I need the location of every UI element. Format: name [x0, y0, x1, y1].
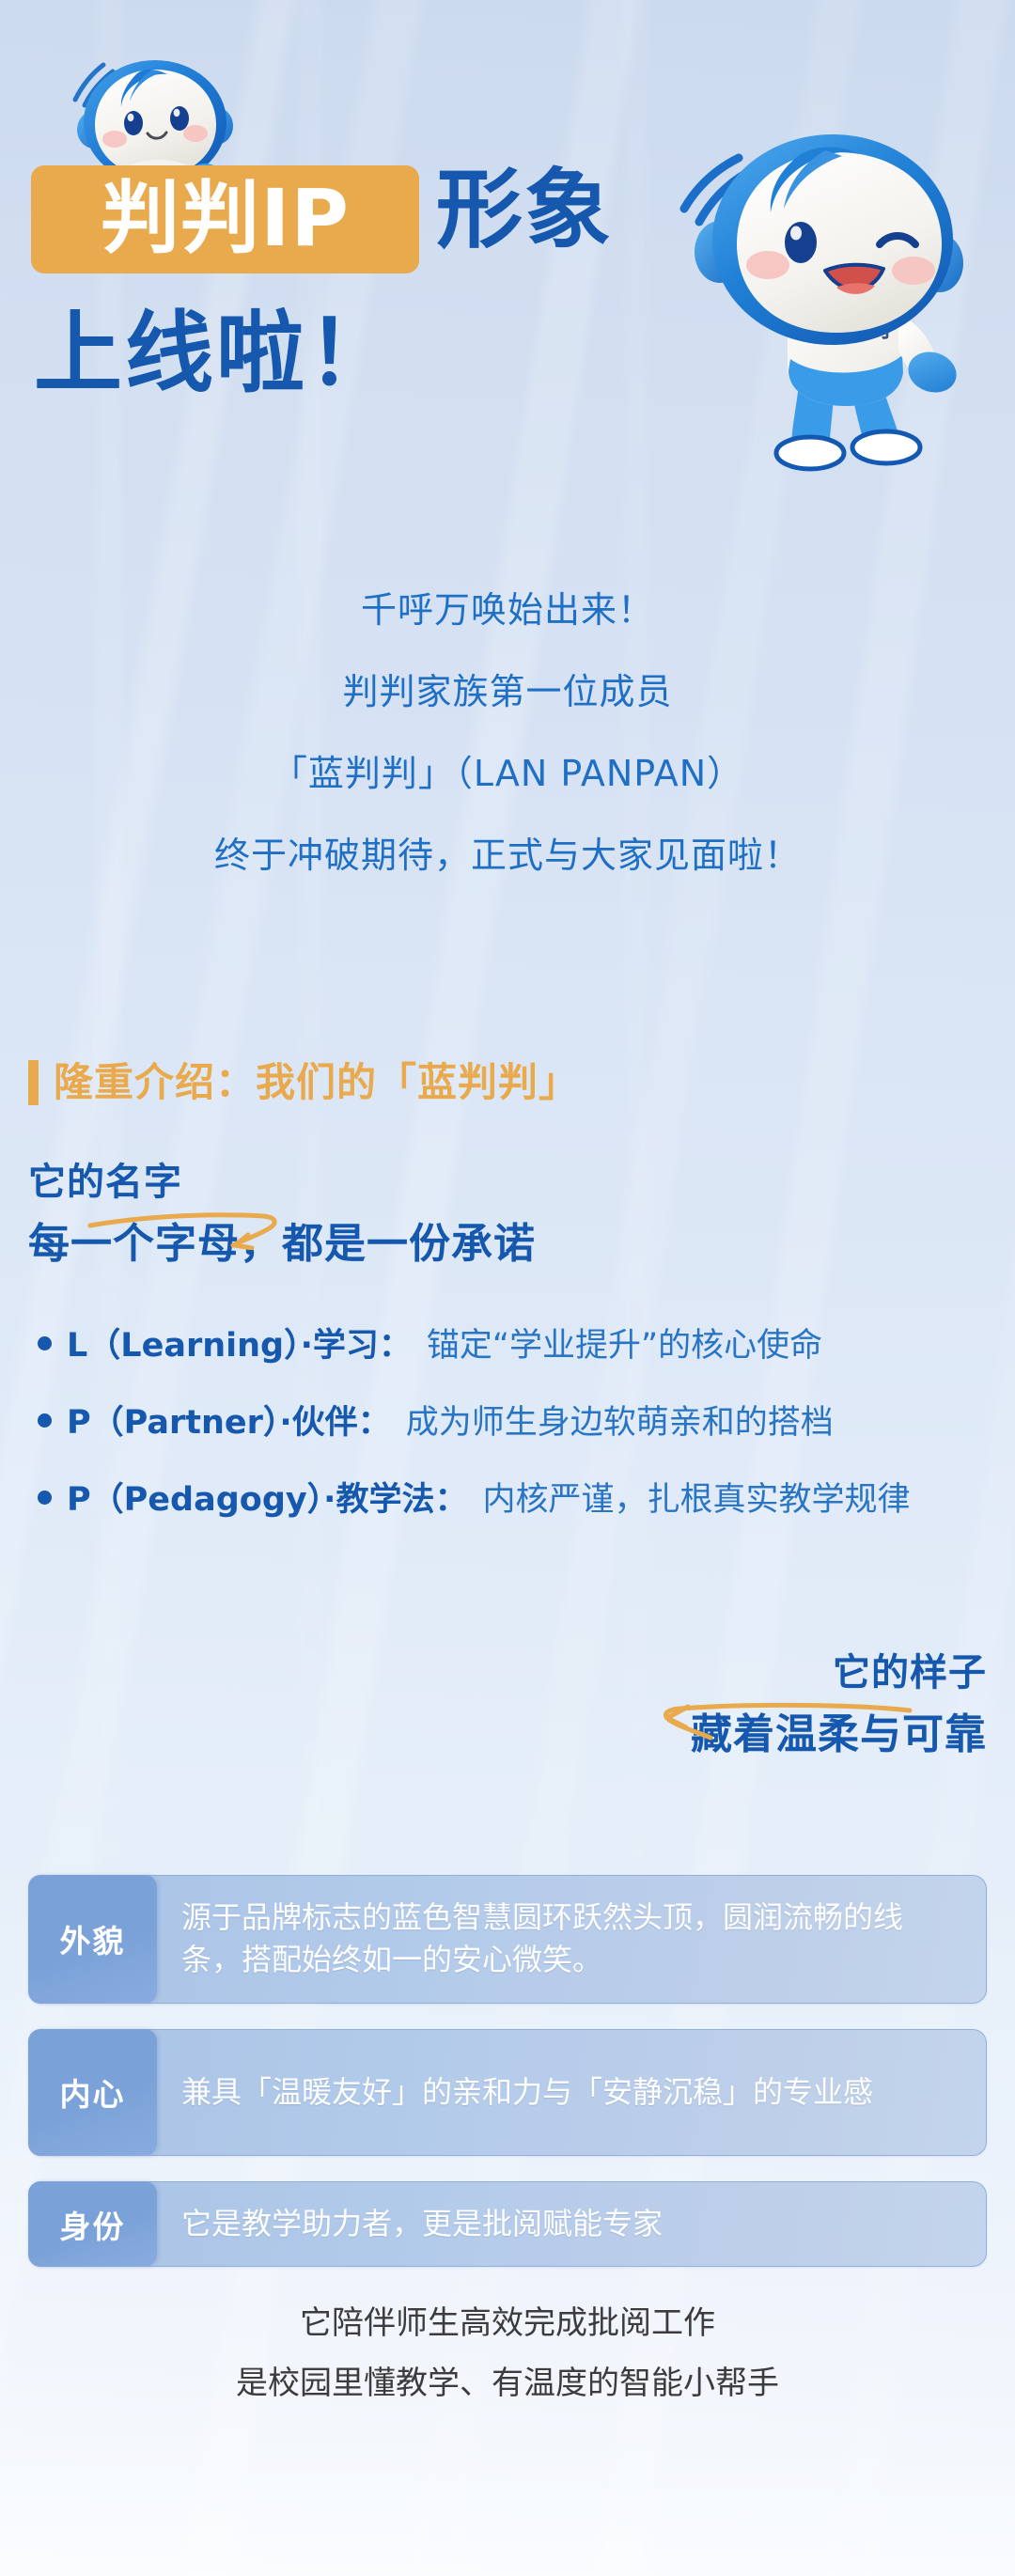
section-heading-accent-bar — [28, 1060, 39, 1105]
trait-card: 身份 它是教学助力者，更是批阅赋能专家 — [28, 2181, 987, 2267]
mascot-waving-icon: 判判 — [658, 103, 996, 498]
swoosh-arrow-left-icon — [641, 1695, 913, 1741]
intro-paragraph: 千呼万唤始出来！ 判判家族第一位成员 「蓝判判」（LAN PANPAN） 终于冲… — [0, 592, 1015, 873]
trait-card-text: 源于品牌标志的蓝色智慧圆环跃然头顶，圆润流畅的线条，搭配始终如一的安心微笑。 — [181, 1897, 960, 1982]
hero-section: 判判IP 形象 上线啦！ — [0, 0, 1015, 536]
intro-line-2: 判判家族第一位成员 — [0, 674, 1015, 710]
bullet-dot-icon — [38, 1336, 52, 1350]
ip-badge: 判判IP — [31, 165, 419, 273]
trait-card-label-text: 外貌 — [60, 1916, 126, 1961]
trait-card-label-text: 身份 — [60, 2202, 126, 2247]
trait-card: 内心 兼具「温暖友好」的亲和力与「安静沉稳」的专业感 — [28, 2029, 987, 2156]
footer-line-2: 是校园里懂教学、有温度的智能小帮手 — [0, 2367, 1015, 2399]
look-block: 它的样子 藏着温柔与可靠 — [329, 1654, 987, 1756]
footer-tagline: 它陪伴师生高效完成批阅工作 是校园里懂教学、有温度的智能小帮手 — [0, 2307, 1015, 2399]
name-block: 它的名字 每一个字母，都是一份承诺 — [28, 1163, 968, 1265]
mascot-peeking-icon — [55, 36, 257, 186]
trait-card-text: 它是教学助力者，更是批阅赋能专家 — [181, 2203, 663, 2245]
trait-card-body: 它是教学助力者，更是批阅赋能专家 — [157, 2182, 986, 2266]
bullet-key: P（Pedagogy）·教学法： — [67, 1484, 467, 1517]
trait-card-label: 身份 — [28, 2181, 157, 2267]
list-item: P（Partner）·伙伴： 成为师生身边软萌亲和的搭档 — [38, 1407, 987, 1440]
look-kicker: 它的样子 — [329, 1654, 987, 1692]
name-kicker: 它的名字 — [28, 1163, 968, 1201]
bullet-value: 成为师生身边软萌亲和的搭档 — [406, 1407, 834, 1440]
trait-card-text: 兼具「温暖友好」的亲和力与「安静沉稳」的专业感 — [181, 2071, 873, 2114]
trait-card-list: 外貌 源于品牌标志的蓝色智慧圆环跃然头顶，圆润流畅的线条，搭配始终如一的安心微笑… — [28, 1875, 987, 2267]
trait-card-label-text: 内心 — [60, 2069, 126, 2115]
trait-card-body: 源于品牌标志的蓝色智慧圆环跃然头顶，圆润流畅的线条，搭配始终如一的安心微笑。 — [157, 1876, 986, 2003]
swoosh-arrow-right-icon — [86, 1205, 293, 1250]
bullet-value: 锚定“学业提升”的核心使命 — [427, 1330, 822, 1363]
intro-line-3: 「蓝判判」（LAN PANPAN） — [0, 756, 1015, 791]
footer-line-1: 它陪伴师生高效完成批阅工作 — [0, 2307, 1015, 2339]
trait-card-label: 外貌 — [28, 1875, 157, 2004]
hero-title-word: 形象 — [436, 167, 613, 254]
section-heading-label: 隆重介绍：我们的「蓝判判」 — [54, 1063, 579, 1102]
letter-promise-list: L（Learning）·学习： 锚定“学业提升”的核心使命 P（Partner）… — [38, 1330, 987, 1517]
bullet-dot-icon — [38, 1491, 52, 1505]
bullet-key: L（Learning）·学习： — [67, 1330, 412, 1363]
trait-card-body: 兼具「温暖友好」的亲和力与「安静沉稳」的专业感 — [157, 2030, 986, 2155]
list-item: L（Learning）·学习： 锚定“学业提升”的核心使命 — [38, 1330, 987, 1363]
intro-line-4: 终于冲破期待，正式与大家见面啦！ — [0, 837, 1015, 873]
trait-card-label: 内心 — [28, 2029, 157, 2156]
section-heading: 隆重介绍：我们的「蓝判判」 — [28, 1060, 579, 1105]
hero-title-line2: 上线啦！ — [34, 310, 398, 398]
ip-badge-label: 判判IP — [101, 179, 350, 258]
bullet-dot-icon — [38, 1413, 52, 1428]
bullet-value: 内核严谨，扎根真实教学规律 — [482, 1484, 910, 1517]
trait-card: 外貌 源于品牌标志的蓝色智慧圆环跃然头顶，圆润流畅的线条，搭配始终如一的安心微笑… — [28, 1875, 987, 2004]
bullet-key: P（Partner）·伙伴： — [67, 1407, 391, 1440]
list-item: P（Pedagogy）·教学法： 内核严谨，扎根真实教学规律 — [38, 1484, 987, 1517]
intro-line-1: 千呼万唤始出来！ — [0, 592, 1015, 628]
